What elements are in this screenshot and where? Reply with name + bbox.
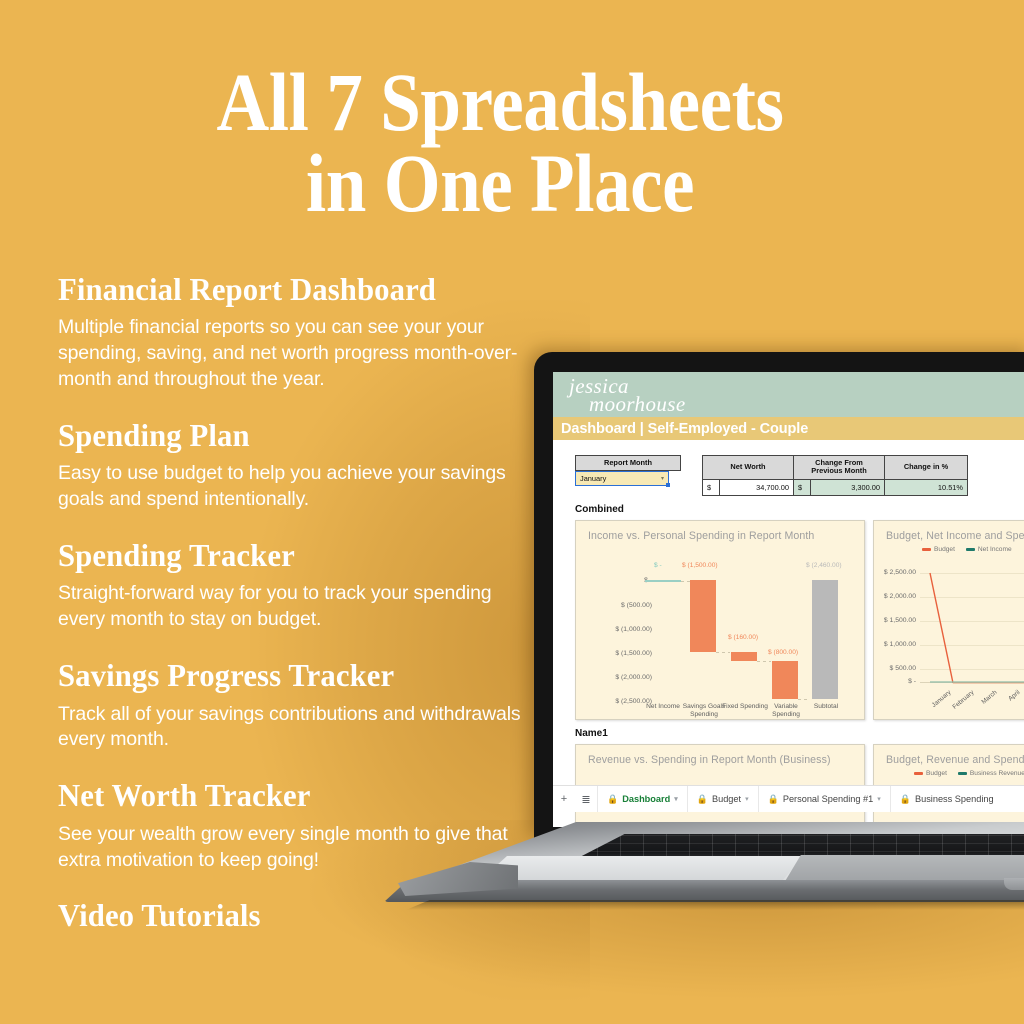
sheet-tab-label: Budget [712,794,741,804]
chart-title: Budget, Revenue and Spend [874,745,1024,766]
bar-value-label: $ (2,460.00) [806,562,842,569]
chevron-down-icon[interactable]: ▾ [674,795,678,803]
cell-net-worth-currency: $ [703,479,720,495]
bar-value-label: $ (1,500.00) [682,562,718,569]
laptop-base [384,822,1024,932]
report-month-label: Report Month [576,456,681,471]
lock-icon: 🔒 [768,794,779,805]
col-header-net-worth: Net Worth [703,456,794,480]
laptop-screen: jessica moorhouse Dashboard | Self-Emplo… [553,372,1024,827]
bar-value-label: $ (160.00) [728,634,758,641]
x-tick-label: Variable Spending [762,703,810,719]
laptop-base-shadow [394,900,1024,910]
y-tick-label: $ (1,500.00) [580,650,652,657]
feature-item-savings-progress-tracker: Savings Progress Tracker Track all of yo… [58,659,538,753]
chart-income-vs-personal-spending: Income vs. Personal Spending in Report M… [575,520,865,720]
headline-line-1: All 7 Spreadsheets [217,56,784,148]
section-label-name1: Name1 [575,728,608,739]
section-label-combined: Combined [575,504,624,515]
legend-swatch-icon [958,772,967,775]
dashboard-title-bar: Dashboard | Self-Employed - Couple [553,417,1024,440]
y-tick-label: $ 2,000.00 [874,593,916,600]
sheet-tab-budget[interactable]: 🔒 Budget ▾ [687,786,758,812]
chevron-down-icon: ▾ [661,475,664,482]
add-sheet-button[interactable]: + [553,793,575,805]
spreadsheet-brand-bar: jessica moorhouse [553,372,1024,417]
legend-label: Business Revenue [970,770,1024,777]
feature-title: Net Worth Tracker [58,779,519,812]
y-tick-label: $ 1,500.00 [874,617,916,624]
dashboard-title: Dashboard | Self-Employed - Couple [561,421,808,437]
y-tick-label: $ (500.00) [580,602,652,609]
chart-title: Budget, Net Income and Spe [874,521,1024,542]
feature-title: Savings Progress Tracker [58,659,519,692]
legend-item-budget: Budget [922,546,955,553]
report-month-header-table: Report Month [575,455,681,471]
chart-title: Revenue vs. Spending in Report Month (Bu… [576,745,864,766]
bar-subtotal [812,580,838,699]
page-title: All 7 Spreadsheets in One Place [60,62,940,223]
feature-body: Easy to use budget to help you achieve y… [58,461,538,513]
all-sheets-menu-button[interactable]: ≣ [575,793,597,806]
bar-savings-goals-spending [690,580,716,652]
chart-legend: Budget Net Income [922,546,1024,553]
legend-swatch-icon [922,548,931,551]
poster-canvas: All 7 Spreadsheets in One Place Financia… [0,0,1024,1024]
cell-change-value: 3,300.00 [811,479,885,495]
feature-item-spending-plan: Spending Plan Easy to use budget to help… [58,419,538,513]
legend-label: Net Income [978,546,1012,553]
kpi-area: Report Month January ▾ Net Worth [575,455,968,496]
chevron-down-icon[interactable]: ▾ [745,795,749,803]
sheet-tab-label: Business Spending [915,794,994,804]
y-tick-label: $ - [874,678,916,685]
x-tick-label: Subtotal [804,703,848,711]
report-month-value: January [580,474,606,483]
table-header-row: Net Worth Change From Previous Month Cha… [703,456,968,480]
legend-item-business-revenue: Business Revenue [958,770,1024,777]
jessica-moorhouse-logo: jessica moorhouse [569,376,686,416]
cell-net-worth-value: 34,700.00 [720,479,794,495]
y-tick-label: $ - [580,577,652,584]
y-tick-label: $ 500.00 [874,665,916,672]
feature-title: Financial Report Dashboard [58,273,519,306]
chart-title: Income vs. Personal Spending in Report M… [576,521,864,542]
sheet-tab-label: Personal Spending #1 [783,794,873,804]
report-month-selector[interactable]: Report Month January ▾ [575,455,681,496]
legend-item-net-income: Net Income [966,546,1012,553]
legend-label: Budget [926,770,947,777]
bar-fixed-spending [731,652,757,661]
laptop-front-notch [1004,878,1024,890]
sheet-tab-label: Dashboard [622,794,670,804]
feature-item-financial-report-dashboard: Financial Report Dashboard Multiple fina… [58,273,538,393]
lock-icon: 🔒 [900,794,911,805]
laptop-mockup: jessica moorhouse Dashboard | Self-Emplo… [534,352,1024,942]
laptop-trackpad [784,855,1024,883]
net-worth-summary-table: Net Worth Change From Previous Month Cha… [702,455,968,496]
sheet-body: Report Month January ▾ Net Worth [553,440,1024,812]
sheet-tab-business-spending[interactable]: 🔒 Business Spending [890,786,1003,812]
y-tick-label: $ 1,000.00 [874,641,916,648]
y-tick-label: $ 2,500.00 [874,569,916,576]
headline-line-2: in One Place [60,143,940,224]
col-header-change-in-percent: Change in % [885,456,968,480]
sheet-tab-dashboard[interactable]: 🔒 Dashboard ▾ [597,786,687,812]
bar-net-income [645,580,681,582]
legend-swatch-icon [966,548,975,551]
report-month-dropdown[interactable]: January ▾ [575,471,669,486]
bar-variable-spending [772,661,798,699]
cell-change-currency: $ [794,479,811,495]
chart-legend: Budget Business Revenue [914,770,1024,777]
lock-icon: 🔒 [607,794,618,805]
legend-label: Budget [934,546,955,553]
bar-value-label: $ - [654,562,662,569]
legend-swatch-icon [914,772,923,775]
x-tick-label: Savings Goals Spending [680,703,728,719]
logo-line-2: moorhouse [589,394,686,415]
legend-item-budget: Budget [914,770,947,777]
sheet-tab-bar: + ≣ 🔒 Dashboard ▾ 🔒 Budget ▾ [553,785,1024,812]
feature-body: Straight-forward way for you to track yo… [58,581,538,633]
y-tick-label: $ (2,000.00) [580,674,652,681]
lock-icon: 🔒 [697,794,708,805]
feature-body: Track all of your savings contributions … [58,702,538,754]
laptop-lid: jessica moorhouse Dashboard | Self-Emplo… [534,352,1024,840]
chevron-down-icon[interactable]: ▾ [877,795,881,803]
feature-title: Spending Plan [58,419,519,452]
feature-body: Multiple financial reports so you can se… [58,315,538,393]
sheet-tab-personal-spending-1[interactable]: 🔒 Personal Spending #1 ▾ [758,786,890,812]
col-header-change-from-previous-month: Change From Previous Month [794,456,885,480]
chart-budget-net-income-and-spending: Budget, Net Income and Spe Budget Net In… [873,520,1024,720]
feature-title: Spending Tracker [58,539,519,572]
col-header-line-2: Previous Month [811,466,866,475]
bar-value-label: $ (800.00) [768,649,798,656]
cell-change-percent: 10.51% [885,479,968,495]
feature-item-spending-tracker: Spending Tracker Straight-forward way fo… [58,539,538,633]
table-row: $ 34,700.00 $ 3,300.00 10.51% [703,479,968,495]
line-chart-plot [920,569,1024,685]
y-tick-label: $ (1,000.00) [580,626,652,633]
